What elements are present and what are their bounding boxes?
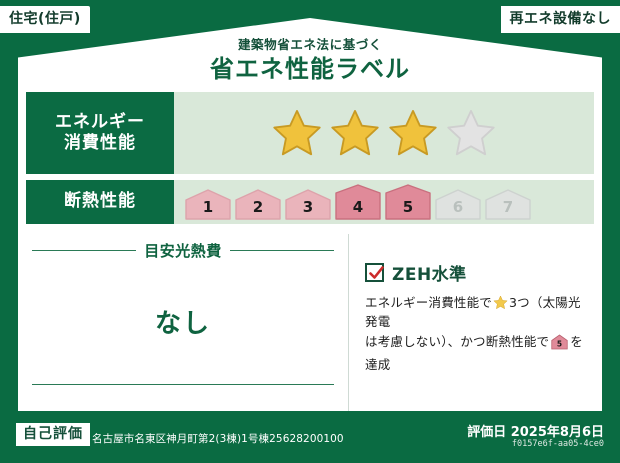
property-address: 名古屋市名東区神月町第2(3棟)1号棟25628200100	[92, 431, 344, 446]
star-icon-empty	[446, 108, 496, 158]
evaluation-date: 評価日 2025年8月6日	[467, 421, 604, 440]
check-icon	[368, 265, 385, 282]
header-subtitle: 建築物省エネ法に基づく	[0, 38, 620, 52]
energy-performance-label: 住宅(住戸) 再エネ設備なし 建築物省エネ法に基づく 省エネ性能ラベル エネルギ…	[0, 0, 620, 463]
energy-performance-row: エネルギー 消費性能	[26, 92, 594, 174]
utility-cost-heading-text: 目安光熱費	[144, 240, 222, 261]
insulation-performance-label-cell: 断熱性能	[26, 180, 174, 224]
zeh-checkbox[interactable]	[365, 263, 384, 282]
energy-label-line2: 消費性能	[55, 133, 145, 154]
heading-rule-right	[230, 250, 334, 251]
zeh-section: ZEH水準 エネルギー消費性能で3つ（太陽光発電は考慮しない）、かつ断熱性能で5…	[348, 234, 602, 411]
star-icon-filled	[272, 108, 322, 158]
insulation-level-number: 5	[384, 198, 432, 216]
zeh-heading: ZEH水準	[365, 260, 586, 285]
zeh-desc-part1: エネルギー消費性能で	[365, 295, 492, 310]
label-footer: 自己評価 名古屋市名東区神月町第2(3棟)1号棟25628200100 評価日 …	[0, 411, 620, 463]
star-icon-filled	[388, 108, 438, 158]
utility-cost-heading: 目安光熱費	[32, 240, 334, 261]
insulation-performance-row: 断熱性能 1234567	[26, 180, 594, 224]
renewable-equipment-badge: 再エネ設備なし	[501, 6, 620, 33]
zeh-desc-part3: は考慮しない）、かつ断熱性能で	[365, 334, 549, 349]
energy-performance-value-cell	[174, 92, 594, 174]
insulation-level-5: 5	[384, 184, 432, 220]
insulation-label-text: 断熱性能	[64, 191, 136, 212]
insulation-level-3: 3	[284, 189, 332, 220]
insulation-level-6: 6	[434, 189, 482, 220]
insulation-level-icon-inline: 5	[551, 338, 568, 353]
insulation-level-4: 4	[334, 184, 382, 220]
star-icon-filled	[330, 108, 380, 158]
insulation-level-7: 7	[484, 189, 532, 220]
star-rating	[272, 108, 496, 158]
utility-cost-bottom-rule	[32, 384, 334, 385]
utility-cost-value: なし	[32, 303, 334, 340]
insulation-level-number: 7	[484, 198, 532, 216]
insulation-level-2: 2	[234, 189, 282, 220]
building-type-badge: 住宅(住戸)	[0, 6, 90, 33]
lower-section: 目安光熱費 なし ZEH水準 エネルギー消費性能で3つ（太陽光発電は考慮しな	[18, 234, 602, 411]
label-body-panel: エネルギー 消費性能 断熱性能 1234567	[18, 84, 602, 411]
svg-text:5: 5	[557, 339, 562, 348]
evaluation-id: f0157e6f-aa05-4ce0	[512, 439, 604, 449]
energy-performance-label-cell: エネルギー 消費性能	[26, 92, 174, 174]
insulation-level-number: 4	[334, 198, 382, 216]
utility-cost-section: 目安光熱費 なし	[18, 234, 348, 411]
energy-label-line1: エネルギー	[55, 112, 145, 133]
label-header: 建築物省エネ法に基づく 省エネ性能ラベル	[0, 38, 620, 82]
insulation-level-1: 1	[184, 189, 232, 220]
zeh-title: ZEH水準	[392, 260, 467, 285]
insulation-level-scale: 1234567	[184, 184, 532, 220]
heading-rule-left	[32, 250, 136, 251]
page-title: 省エネ性能ラベル	[0, 56, 620, 82]
self-evaluation-badge: 自己評価	[16, 423, 90, 446]
insulation-level-number: 6	[434, 198, 482, 216]
insulation-performance-value-cell: 1234567	[174, 180, 594, 224]
star-icon-inline	[493, 295, 508, 310]
insulation-level-number: 3	[284, 198, 332, 216]
insulation-level-number: 1	[184, 198, 232, 216]
performance-rows: エネルギー 消費性能 断熱性能 1234567	[18, 84, 602, 224]
insulation-level-number: 2	[234, 198, 282, 216]
zeh-description: エネルギー消費性能で3つ（太陽光発電は考慮しない）、かつ断熱性能で5を達成	[365, 293, 586, 375]
